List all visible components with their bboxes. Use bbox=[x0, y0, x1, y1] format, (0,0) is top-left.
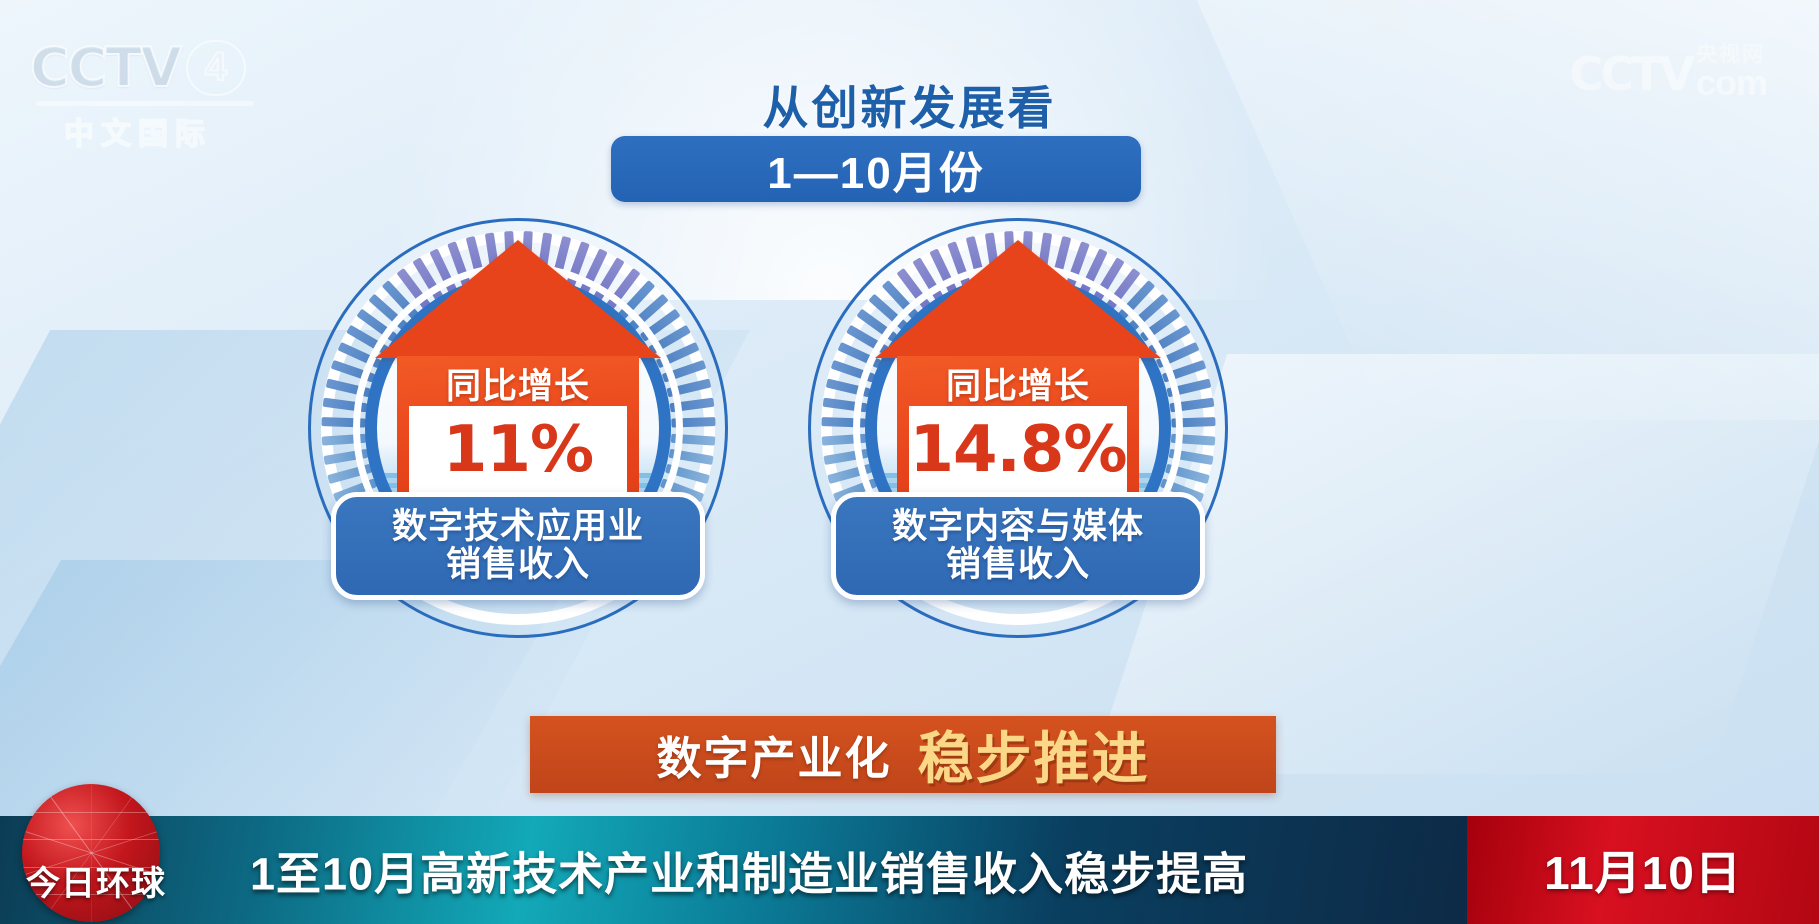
growth-value: 14.8% bbox=[909, 418, 1126, 482]
metric-name-line2: 销售收入 bbox=[446, 546, 590, 584]
summary-banner-subject: 数字产业化 bbox=[656, 722, 891, 787]
metric-name-box: 数字技术应用业 销售收入 bbox=[331, 492, 705, 600]
arrow-up-icon bbox=[875, 240, 1161, 358]
arrow-up-icon bbox=[375, 240, 661, 358]
cctv4-channel-logo: CCTV 4 中文国际 bbox=[30, 36, 254, 153]
news-ticker-bar: 今日环球 1至10月高新技术产业和制造业销售收入稳步提高 11月10日 bbox=[0, 816, 1819, 924]
metric-name-box: 数字内容与媒体 销售收入 bbox=[831, 492, 1205, 600]
growth-label: 同比增长 bbox=[897, 358, 1139, 409]
watermark-right-group: 央视网 com bbox=[1696, 44, 1767, 101]
growth-value-box: 14.8% bbox=[909, 406, 1127, 494]
date-badge: 11月10日 bbox=[1467, 816, 1819, 924]
growth-label: 同比增长 bbox=[397, 358, 639, 409]
metric-name-line1: 数字技术应用业 bbox=[392, 508, 644, 546]
cctv-wordmark: CCTV bbox=[30, 36, 180, 99]
date-badge-text: 11月10日 bbox=[1544, 837, 1742, 903]
logo-row: CCTV 4 bbox=[30, 36, 254, 99]
growth-value: 11% bbox=[443, 418, 593, 482]
page-title: 从创新发展看 bbox=[0, 72, 1819, 138]
watermark-cctv-text: CCTV bbox=[1569, 47, 1692, 101]
summary-banner-emphasis: 稳步推进 bbox=[918, 714, 1150, 795]
metric-name-line2: 销售收入 bbox=[946, 546, 1090, 584]
ticker-headline: 1至10月高新技术产业和制造业销售收入稳步提高 bbox=[250, 838, 1248, 903]
period-badge-text: 1—10月份 bbox=[767, 137, 984, 201]
logo-underline bbox=[36, 101, 254, 106]
metric-card-digital-content: 同比增长 14.8% 数字内容与媒体 销售收入 bbox=[783, 218, 1253, 618]
period-badge: 1—10月份 bbox=[611, 136, 1141, 202]
channel-subtitle: 中文国际 bbox=[64, 109, 254, 153]
page-title-text: 从创新发展看 bbox=[763, 72, 1057, 138]
ticker-main-area: 今日环球 1至10月高新技术产业和制造业销售收入稳步提高 bbox=[0, 816, 1467, 924]
program-name: 今日环球 bbox=[16, 856, 176, 905]
watermark-com-text: com bbox=[1696, 65, 1767, 101]
summary-banner: 数字产业化 稳步推进 bbox=[530, 716, 1276, 793]
metric-name-line1: 数字内容与媒体 bbox=[892, 508, 1144, 546]
cctv-com-watermark: CCTV 央视网 com bbox=[1569, 44, 1767, 101]
growth-value-box: 11% bbox=[409, 406, 627, 494]
channel-number: 4 bbox=[186, 40, 246, 96]
metric-card-digital-tech: 同比增长 11% 数字技术应用业 销售收入 bbox=[283, 218, 753, 618]
